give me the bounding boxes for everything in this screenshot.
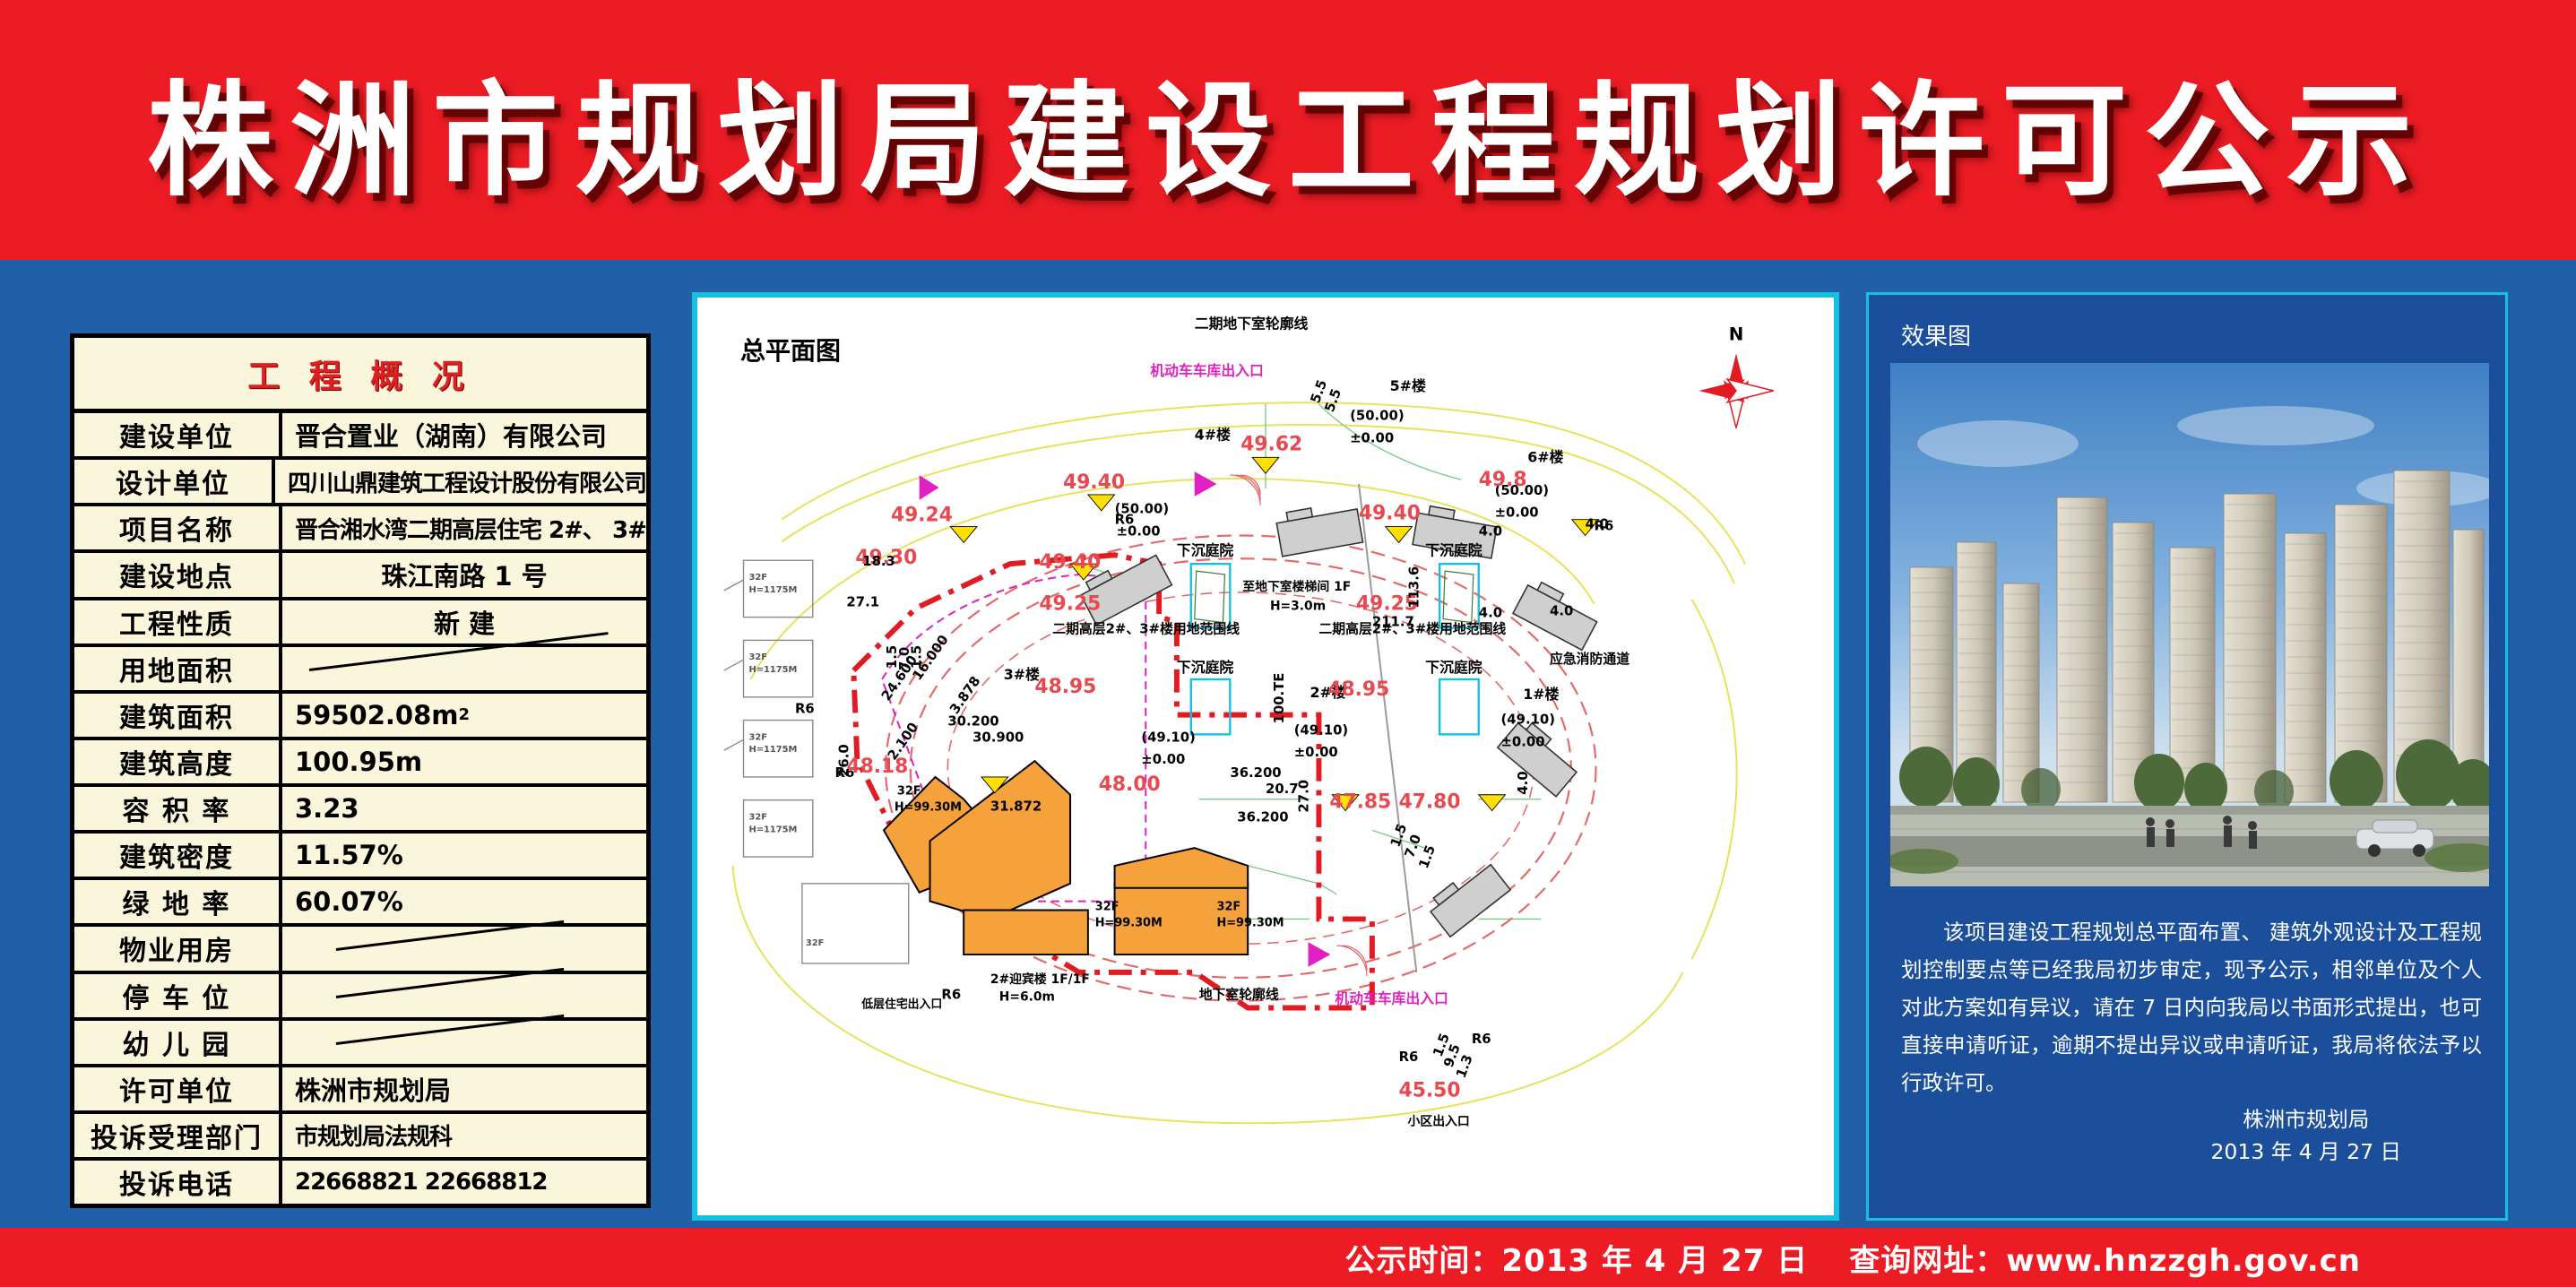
svg-text:H=1175M: H=1175M: [748, 585, 797, 595]
table-row-value: [282, 974, 646, 1017]
table-row: 物业用房: [74, 927, 646, 973]
svg-text:49.40: 49.40: [1039, 551, 1101, 574]
table-row: 许可单位株洲市规划局: [74, 1067, 646, 1114]
svg-text:36.200: 36.200: [1230, 764, 1281, 781]
svg-text:R6: R6: [795, 701, 815, 717]
table-row-value: 60.07%: [282, 880, 646, 923]
table-row-value: 59502.08m2: [282, 694, 646, 737]
table-row: 用地面积: [74, 647, 646, 694]
table-row-value: 新 建: [282, 600, 646, 643]
svg-text:26.0: 26.0: [835, 744, 851, 777]
table-row: 建筑面积59502.08m2: [74, 694, 646, 740]
table-row-key: 物业用房: [74, 927, 282, 970]
svg-text:32F: 32F: [748, 573, 767, 583]
svg-text:H=3.0m: H=3.0m: [1270, 600, 1326, 614]
notice-signature: 株洲市规划局 2013 年 4 月 27 日: [2210, 1103, 2401, 1168]
svg-text:32F: 32F: [1095, 901, 1119, 914]
svg-text:49.40: 49.40: [1063, 471, 1125, 494]
svg-text:49.40: 49.40: [1359, 503, 1421, 525]
svg-text:二期高层2#、3#楼用地范围线: 二期高层2#、3#楼用地范围线: [1052, 620, 1240, 636]
table-row-key: 停 车 位: [74, 974, 282, 1017]
svg-text:49.25: 49.25: [1039, 593, 1101, 616]
svg-text:27.1: 27.1: [846, 594, 879, 610]
svg-text:(50.00): (50.00): [1350, 408, 1405, 424]
table-row: 投诉受理部门市规划局法规科: [74, 1114, 646, 1161]
site-plan-panel: 总平面图: [692, 292, 1839, 1221]
svg-text:R6: R6: [1115, 512, 1135, 528]
table-row: 设计单位四川山鼎建筑工程设计股份有限公司: [74, 460, 646, 506]
svg-text:H=1175M: H=1175M: [748, 665, 797, 675]
svg-text:机动车车库出入口: 机动车车库出入口: [1335, 990, 1448, 1007]
query-url-label: 查询网址：: [1849, 1243, 2006, 1279]
svg-text:下沉庭院: 下沉庭院: [1425, 659, 1482, 676]
table-title: 工 程 概 况: [247, 350, 473, 397]
svg-text:30.900: 30.900: [972, 729, 1024, 745]
svg-text:6#楼: 6#楼: [1527, 448, 1563, 465]
svg-text:±0.00: ±0.00: [1141, 751, 1185, 767]
signature-org: 株洲市规划局: [2210, 1103, 2401, 1136]
svg-text:低层住宅出入口: 低层住宅出入口: [860, 997, 942, 1011]
table-row-key: 许可单位: [74, 1067, 282, 1110]
svg-text:27.0: 27.0: [1296, 780, 1312, 813]
svg-text:3.878: 3.878: [947, 673, 984, 717]
svg-text:32F: 32F: [897, 785, 921, 799]
table-row-key: 项目名称: [74, 506, 282, 549]
table-title-row: 工 程 概 况: [74, 338, 646, 413]
table-row: 建设地点珠江南路 1 号: [74, 553, 646, 600]
svg-text:机动车车库出入口: 机动车车库出入口: [1150, 362, 1264, 379]
svg-text:49.62: 49.62: [1240, 433, 1302, 455]
table-row: 停 车 位: [74, 974, 646, 1021]
table-row-key: 建筑高度: [74, 740, 282, 783]
svg-text:1#楼: 1#楼: [1523, 686, 1559, 703]
table-row-value: [282, 927, 646, 970]
svg-text:±0.00: ±0.00: [1294, 744, 1338, 760]
svg-text:18.3: 18.3: [862, 553, 895, 569]
table-row-value: 珠江南路 1 号: [282, 553, 646, 596]
footer-text: 公示时间：2013 年 4 月 27 日查询网址：www.hnzzgh.gov.…: [1344, 1236, 2361, 1280]
publish-time-label: 公示时间：: [1344, 1243, 1501, 1279]
svg-text:2#迎宾楼 1F/1F: 2#迎宾楼 1F/1F: [990, 972, 1090, 987]
table-row-key: 幼 儿 园: [74, 1021, 282, 1064]
table-row: 建设单位晋合置业（湖南）有限公司: [74, 413, 646, 460]
table-row-key: 绿 地 率: [74, 880, 282, 923]
svg-text:49.8: 49.8: [1479, 469, 1527, 491]
site-plan-drawing: N 二期地下室轮廓线 5#楼 4#楼 6#楼 1#楼 2#楼 3#楼 (50.0…: [697, 298, 1834, 1217]
table-row-key: 建筑面积: [74, 694, 282, 737]
table-row: 建筑密度11.57%: [74, 834, 646, 880]
svg-text:20.7: 20.7: [1266, 781, 1299, 797]
svg-text:R6: R6: [941, 987, 961, 1003]
render-and-notice-panel: 效果图: [1866, 292, 2508, 1221]
svg-text:(49.10): (49.10): [1294, 721, 1349, 738]
table-row-key: 用地面积: [74, 647, 282, 690]
svg-text:47.80: 47.80: [1399, 791, 1461, 814]
query-url-value: www.hnzzgh.gov.cn: [2006, 1243, 2361, 1279]
svg-text:49.24: 49.24: [891, 505, 953, 527]
render-label: 效果图: [1901, 318, 1971, 351]
page-footer: 公示时间：2013 年 4 月 27 日查询网址：www.hnzzgh.gov.…: [0, 1228, 2576, 1287]
table-row-value: 100.95m: [282, 740, 646, 783]
table-row: 幼 儿 园: [74, 1021, 646, 1067]
svg-text:4.0: 4.0: [1550, 603, 1573, 619]
table-row-key: 建筑密度: [74, 834, 282, 877]
table-row-value: 晋合置业（湖南）有限公司: [282, 413, 646, 456]
svg-text:下沉庭院: 下沉庭院: [1177, 541, 1233, 558]
svg-text:31.872: 31.872: [990, 799, 1042, 815]
table-row: 项目名称晋合湘水湾二期高层住宅 2#、 3#: [74, 506, 646, 553]
public-notice-text: 该项目建设工程规划总平面布置、 建筑外观设计及工程规划控制要点等已经我局初步审定…: [1901, 913, 2482, 1101]
svg-text:4.0: 4.0: [1479, 523, 1502, 539]
notice-paragraph: 该项目建设工程规划总平面布置、 建筑外观设计及工程规划控制要点等已经我局初步审定…: [1901, 913, 2482, 1101]
svg-text:32F: 32F: [748, 652, 767, 662]
table-row-key: 投诉受理部门: [74, 1114, 282, 1157]
svg-text:下沉庭院: 下沉庭院: [1425, 541, 1482, 558]
table-row: 容 积 率3.23: [74, 787, 646, 834]
svg-text:±0.00: ±0.00: [1501, 733, 1545, 749]
svg-text:47.85: 47.85: [1329, 791, 1391, 814]
building-render-image: [1890, 363, 2489, 886]
table-row-key: 工程性质: [74, 600, 282, 643]
publish-time-value: 2013 年 4 月 27 日: [1501, 1243, 1808, 1279]
table-row-value: [282, 647, 646, 690]
svg-text:4.0: 4.0: [1515, 771, 1531, 794]
signature-date: 2013 年 4 月 27 日: [2210, 1136, 2401, 1168]
svg-text:32F: 32F: [1217, 901, 1241, 914]
svg-text:下沉庭院: 下沉庭院: [1177, 659, 1233, 676]
table-row-value: 市规划局法规科: [282, 1114, 646, 1157]
svg-text:±0.00: ±0.00: [1495, 505, 1539, 521]
svg-text:H=99.30M: H=99.30M: [895, 801, 962, 815]
svg-text:二期地下室轮廓线: 二期地下室轮廓线: [1195, 315, 1309, 333]
svg-text:N: N: [1729, 324, 1744, 345]
svg-text:H=6.0m: H=6.0m: [999, 990, 1055, 1005]
table-row: 投诉电话22668821 22668812: [74, 1161, 646, 1204]
table-row: 建筑高度100.95m: [74, 740, 646, 787]
svg-text:(49.10): (49.10): [1501, 711, 1556, 727]
svg-text:32F: 32F: [806, 938, 825, 948]
table-row-value: [282, 1021, 646, 1064]
svg-text:4.0: 4.0: [1586, 516, 1609, 532]
svg-text:100.TE: 100.TE: [1271, 673, 1287, 724]
svg-text:32F: 32F: [748, 732, 767, 742]
svg-text:地下室轮廓线: 地下室轮廓线: [1199, 987, 1279, 1003]
table-row-key: 投诉电话: [74, 1161, 282, 1204]
svg-text:±0.00: ±0.00: [1350, 429, 1394, 445]
table-row-key: 建设地点: [74, 553, 282, 596]
svg-text:H=99.30M: H=99.30M: [1095, 916, 1163, 929]
svg-text:36.200: 36.200: [1237, 808, 1288, 825]
table-row-key: 容 积 率: [74, 787, 282, 830]
svg-text:48.95: 48.95: [1034, 676, 1096, 698]
table-row-value: 11.57%: [282, 834, 646, 877]
svg-text:4.0: 4.0: [1479, 605, 1502, 621]
page-title: 株洲市规划局建设工程规划许可公示: [147, 40, 2429, 220]
svg-text:H=1175M: H=1175M: [748, 825, 797, 834]
svg-text:小区出入口: 小区出入口: [1407, 1113, 1469, 1128]
svg-text:30.200: 30.200: [947, 713, 998, 729]
table-row-value: 22668821 22668812: [282, 1161, 646, 1204]
svg-text:至地下室楼梯间 1F: 至地下室楼梯间 1F: [1242, 579, 1351, 594]
svg-text:48.95: 48.95: [1327, 678, 1389, 701]
table-row-value: 3.23: [282, 787, 646, 830]
table-row-value: 晋合湘水湾二期高层住宅 2#、 3#: [282, 506, 646, 549]
project-overview-table: 工 程 概 况 建设单位晋合置业（湖南）有限公司设计单位四川山鼎建筑工程设计股份…: [70, 333, 651, 1208]
svg-text:113.6: 113.6: [1405, 566, 1422, 609]
north-arrow-icon: [1699, 353, 1773, 428]
svg-text:R6: R6: [1472, 1031, 1491, 1047]
svg-text:5#楼: 5#楼: [1390, 377, 1426, 394]
svg-text:4#楼: 4#楼: [1195, 427, 1231, 444]
table-row-key: 建设单位: [74, 413, 282, 456]
svg-text:应急消防通道: 应急消防通道: [1550, 651, 1629, 667]
svg-text:45.50: 45.50: [1399, 1080, 1461, 1102]
svg-text:211.7: 211.7: [1372, 614, 1414, 630]
svg-text:H=1175M: H=1175M: [748, 745, 797, 755]
table-row-value: 四川山鼎建筑工程设计股份有限公司: [275, 460, 646, 503]
svg-text:R6: R6: [1399, 1049, 1419, 1065]
svg-text:(49.10): (49.10): [1141, 729, 1196, 745]
svg-text:H=99.30M: H=99.30M: [1217, 916, 1284, 929]
svg-text:32F: 32F: [748, 812, 767, 822]
svg-text:48.00: 48.00: [1099, 773, 1161, 796]
table-row-key: 设计单位: [74, 460, 275, 503]
table-row-value: 株洲市规划局: [282, 1067, 646, 1110]
page-header: 株洲市规划局建设工程规划许可公示: [0, 0, 2576, 260]
